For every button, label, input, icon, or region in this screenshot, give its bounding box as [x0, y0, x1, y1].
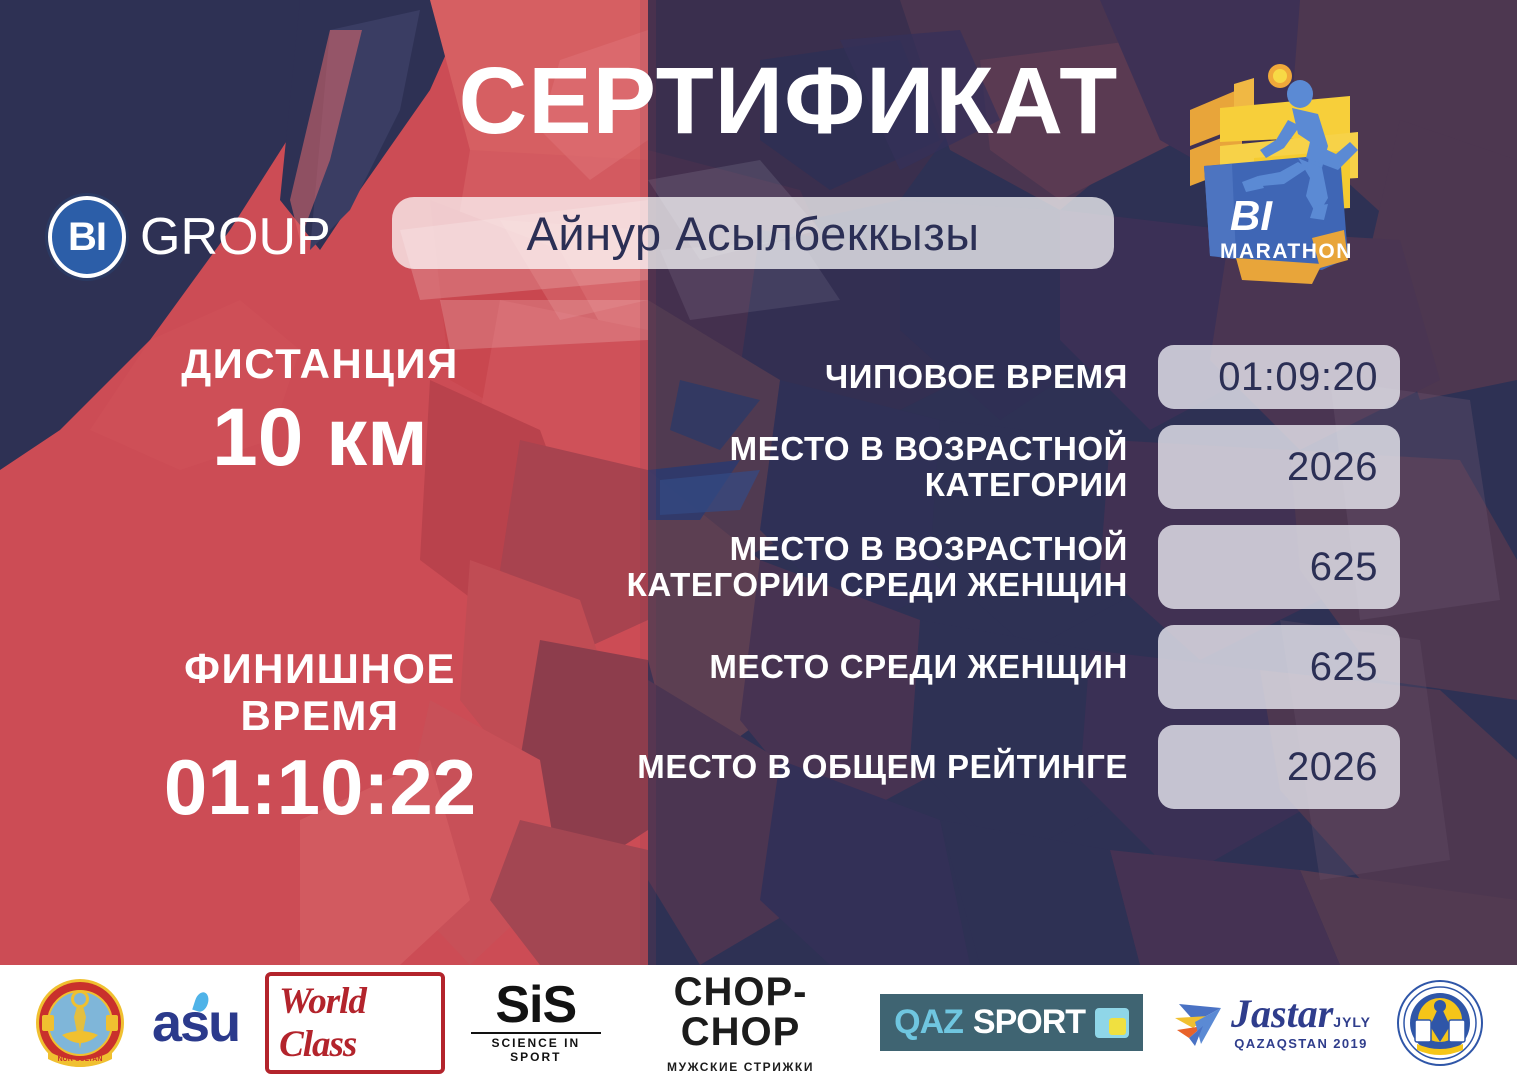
svg-text:NUR-SULTAN: NUR-SULTAN	[58, 1056, 103, 1063]
stat-label: МЕСТО В ВОЗРАСТНОЙ КАТЕГОРИИ	[520, 431, 1128, 504]
sponsor-qazsport: QAZ SPORT	[880, 973, 1143, 1073]
asu-wordmark: asu	[152, 996, 239, 1050]
distance-value: 10 км	[60, 391, 580, 485]
sponsor-jastar: JastarJYLY QAZAQSTAN 2019	[1169, 973, 1371, 1073]
stat-value: 01:09:20	[1158, 345, 1400, 409]
stat-row: МЕСТО В ОБЩЕМ РЕЙТИНГЕ 2026	[520, 725, 1400, 809]
stat-label: МЕСТО СРЕДИ ЖЕНЩИН	[520, 649, 1128, 685]
qazsport-wordmark-sport: SPORT	[973, 1003, 1085, 1042]
stat-row: МЕСТО СРЕДИ ЖЕНЩИН 625	[520, 625, 1400, 709]
results-stats-list: ЧИПОВОЕ ВРЕМЯ 01:09:20 МЕСТО В ВОЗРАСТНО…	[520, 345, 1400, 825]
stat-row: МЕСТО В ВОЗРАСТНОЙ КАТЕГОРИИ СРЕДИ ЖЕНЩИ…	[520, 525, 1400, 609]
jastar-arrow-icon	[1169, 994, 1227, 1052]
sponsor-sis: SiS SCIENCE IN SPORT	[471, 973, 601, 1073]
sponsor-chop-chop: CHOP-CHOP МУЖСКИЕ СТРИЖКИ	[627, 973, 854, 1073]
certificate-page: СЕРТИФИКАТ BI GROUP Айнур Асылбеккызы	[0, 0, 1517, 1080]
participant-name-plate: Айнур Асылбеккызы	[392, 197, 1114, 269]
stat-value: 625	[1158, 625, 1400, 709]
sponsor-world-class: World Class	[265, 973, 445, 1073]
bi-marathon-logo: BI MARATHON	[1172, 58, 1402, 308]
sis-tagline: SCIENCE IN SPORT	[471, 1032, 601, 1064]
finish-time-label-line2: ВРЕМЯ	[60, 692, 580, 739]
qazsport-wordmark-qaz: QAZ	[894, 1003, 963, 1042]
sponsor-bar: NUR-SULTAN asu World Class SiS SCIENCE I…	[0, 965, 1517, 1080]
bi-badge-icon: BI	[48, 196, 126, 278]
chop-chop-tagline: МУЖСКИЕ СТРИЖКИ	[627, 1060, 854, 1074]
svg-text:MARATHON: MARATHON	[1220, 240, 1353, 263]
sis-wordmark: SiS	[471, 981, 601, 1030]
sis-logo: SiS SCIENCE IN SPORT	[471, 981, 601, 1064]
qazsport-chip-icon	[1095, 1008, 1129, 1038]
finish-time-value: 01:10:22	[60, 741, 580, 835]
stat-row: ЧИПОВОЕ ВРЕМЯ 01:09:20	[520, 345, 1400, 409]
bi-group-wordmark: GROUP	[140, 207, 331, 267]
stat-value: 2026	[1158, 425, 1400, 509]
jastar-jyly: JYLY	[1333, 1014, 1371, 1030]
jastar-wordmark: Jastar	[1231, 991, 1333, 1036]
nur-sultan-emblem-icon: NUR-SULTAN	[34, 977, 126, 1069]
sponsor-nur-sultan: NUR-SULTAN	[34, 973, 126, 1073]
stat-label: МЕСТО В ВОЗРАСТНОЙ КАТЕГОРИИ СРЕДИ ЖЕНЩИ…	[520, 531, 1128, 604]
svg-text:BI: BI	[1230, 192, 1273, 239]
stat-value: 625	[1158, 525, 1400, 609]
stat-label: МЕСТО В ОБЩЕМ РЕЙТИНГЕ	[520, 749, 1128, 785]
qazsport-logo: QAZ SPORT	[880, 994, 1143, 1051]
participant-name: Айнур Асылбеккызы	[526, 206, 979, 261]
sponsor-ministry	[1397, 973, 1483, 1073]
world-class-wordmark: World Class	[265, 972, 445, 1074]
ministry-emblem-icon	[1397, 980, 1483, 1066]
chop-chop-logo: CHOP-CHOP МУЖСКИЕ СТРИЖКИ	[627, 972, 854, 1074]
stat-label: ЧИПОВОЕ ВРЕМЯ	[520, 359, 1128, 395]
sponsor-asu: asu	[152, 973, 239, 1073]
jastar-caption: QAZAQSTAN 2019	[1231, 1036, 1371, 1051]
finish-time-block: ФИНИШНОЕ ВРЕМЯ 01:10:22	[60, 645, 580, 835]
stat-value: 2026	[1158, 725, 1400, 809]
chop-chop-wordmark: CHOP-CHOP	[627, 972, 854, 1052]
bi-group-logo: BI GROUP	[48, 196, 331, 278]
distance-block: ДИСТАНЦИЯ 10 км	[60, 340, 580, 485]
distance-label: ДИСТАНЦИЯ	[60, 340, 580, 387]
finish-time-label-line1: ФИНИШНОЕ	[60, 645, 580, 692]
stat-row: МЕСТО В ВОЗРАСТНОЙ КАТЕГОРИИ 2026	[520, 425, 1400, 509]
